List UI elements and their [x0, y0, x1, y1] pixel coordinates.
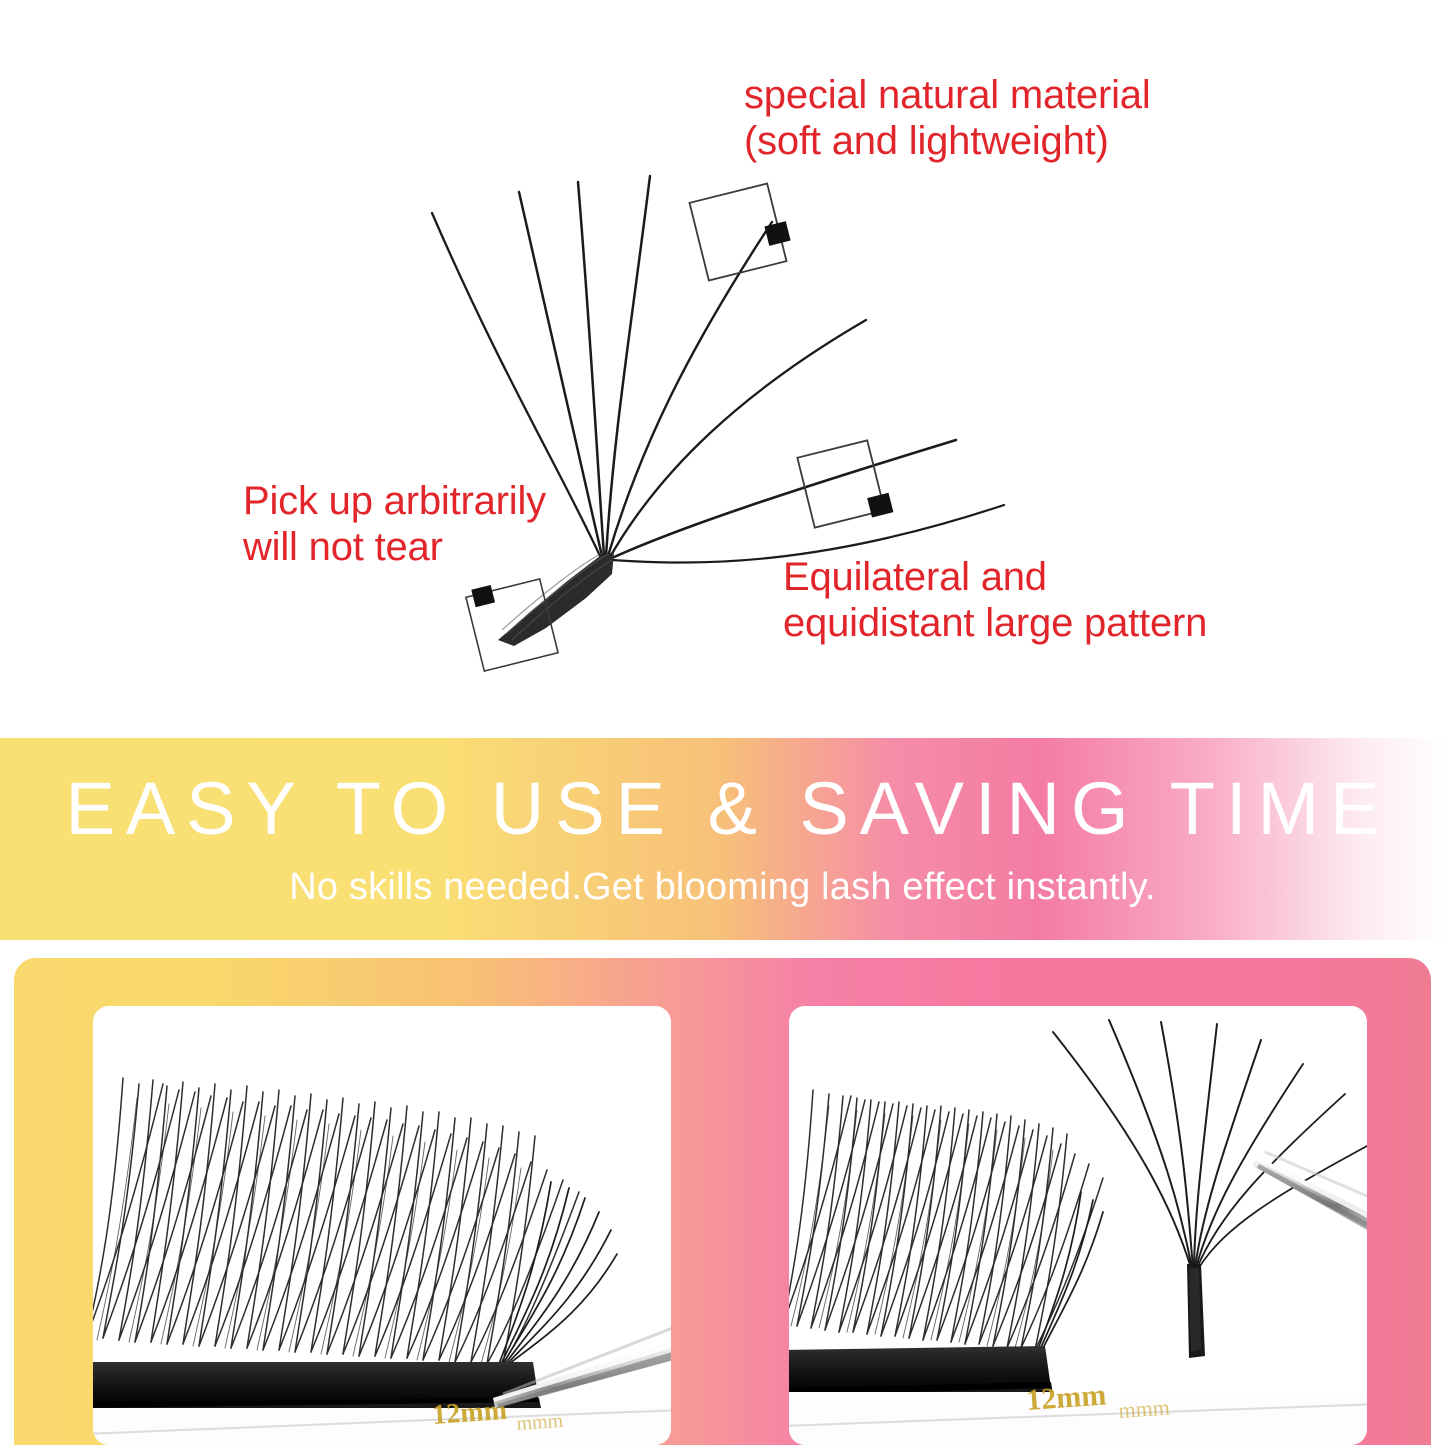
callout-equilateral-equidistant: Equilateral and equidistant large patter…	[783, 554, 1207, 647]
feature-banner: EASY TO USE & SAVING TIME No skills need…	[0, 738, 1445, 940]
photo-panel-lash-fan: 12mm mmm	[789, 1006, 1367, 1445]
size-label-right: 12mm	[1025, 1378, 1107, 1416]
banner-subheadline: No skills needed.Get blooming lash effec…	[289, 868, 1156, 906]
photo-frame: 12mm mmm	[14, 958, 1431, 1445]
top-diagram-section: special natural material (soft and light…	[0, 0, 1445, 738]
svg-text:mmm: mmm	[1118, 1394, 1171, 1423]
callout-special-natural-material: special natural material (soft and light…	[744, 72, 1151, 165]
marker-box-upper	[690, 181, 796, 280]
banner-headline: EASY TO USE & SAVING TIME	[54, 772, 1390, 846]
infographic-page: special natural material (soft and light…	[0, 0, 1445, 1445]
bottom-photo-section: 12mm mmm	[0, 940, 1445, 1445]
lash-fan-diagram	[0, 0, 1445, 738]
lash-fan-photo: 12mm mmm	[789, 1006, 1367, 1445]
svg-text:mmm: mmm	[516, 1410, 565, 1435]
photo-panel-lash-tray: 12mm mmm	[93, 1006, 671, 1445]
lash-tray-photo: 12mm mmm	[93, 1006, 671, 1445]
callout-pick-up-arbitrarily: Pick up arbitrarily will not tear	[243, 478, 546, 571]
